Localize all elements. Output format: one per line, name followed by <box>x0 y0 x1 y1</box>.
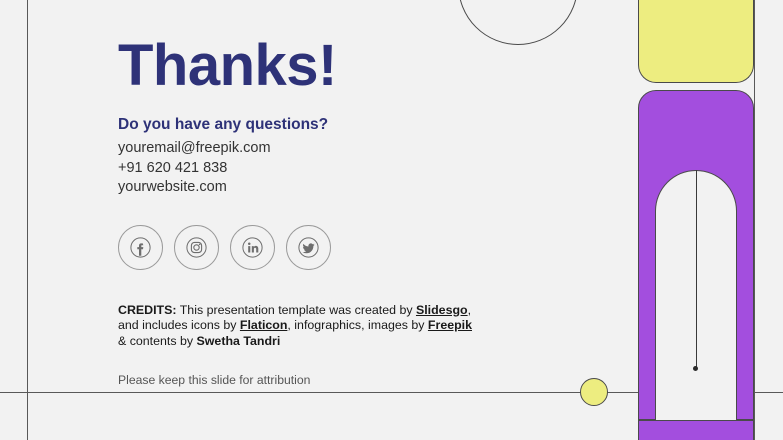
decorative-pin-dot <box>693 366 698 371</box>
attribution-note: Please keep this slide for attribution <box>118 349 538 387</box>
decorative-shape-purple-bottom <box>638 420 754 440</box>
social-link-linkedin[interactable] <box>230 225 275 270</box>
subtitle: Do you have any questions? <box>118 96 538 135</box>
credits-link-flaticon[interactable]: Flaticon <box>240 318 288 332</box>
social-link-facebook[interactable] <box>118 225 163 270</box>
contact-email: youremail@freepik.com <box>118 139 538 159</box>
social-link-instagram[interactable] <box>174 225 219 270</box>
linkedin-icon <box>239 234 266 261</box>
guide-line-vertical-left <box>27 0 28 440</box>
credits-link-slidesgo[interactable]: Slidesgo <box>416 303 468 317</box>
credits-link-freepik[interactable]: Freepik <box>428 318 472 332</box>
decorative-shape-yellow <box>638 0 754 83</box>
credits-text: CREDITS: This presentation template was … <box>118 270 478 350</box>
facebook-icon <box>127 234 154 261</box>
instagram-icon <box>183 234 210 261</box>
contact-phone: +91 620 421 838 <box>118 159 538 179</box>
credits-text-1: This presentation template was created b… <box>177 303 416 317</box>
credits-author: Swetha Tandri <box>197 334 281 348</box>
decorative-yellow-dot <box>580 378 608 406</box>
decorative-pin-line <box>696 170 697 369</box>
page-title: Thanks! <box>118 36 538 96</box>
contact-list: youremail@freepik.com +91 620 421 838 yo… <box>118 135 538 198</box>
content-block: Thanks! Do you have any questions? youre… <box>118 36 538 387</box>
credits-text-3: , infographics, images by <box>287 318 428 332</box>
credits-label: CREDITS: <box>118 303 177 317</box>
contact-website: yourwebsite.com <box>118 178 538 198</box>
guide-line-vertical-right <box>754 0 755 440</box>
slide-canvas: Thanks! Do you have any questions? youre… <box>0 0 783 440</box>
social-link-twitter[interactable] <box>286 225 331 270</box>
social-links <box>118 198 538 270</box>
twitter-icon <box>295 234 322 261</box>
credits-text-4: & contents by <box>118 334 197 348</box>
